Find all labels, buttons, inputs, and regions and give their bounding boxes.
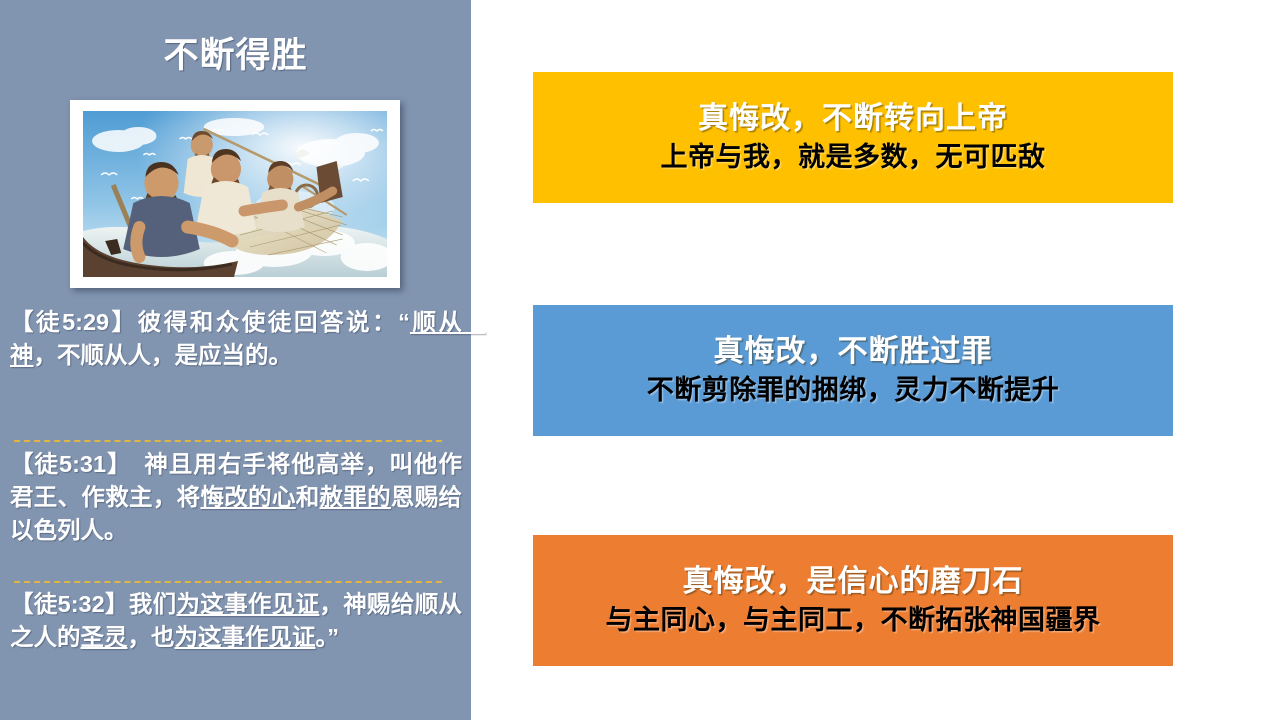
point-card-repentance-turn-to-god: 真悔改，不断转向上帝 上帝与我，就是多数，无可匹敌	[533, 72, 1173, 203]
point-card-repentance-overcome-sin: 真悔改，不断胜过罪 不断剪除罪的捆绑，灵力不断提升	[533, 305, 1173, 436]
point-card-repentance-whetstone-of-faith: 真悔改，是信心的磨刀石 与主同心，与主同工，不断拓张神国疆界	[533, 535, 1173, 666]
point-subtitle: 与主同心，与主同工，不断拓张神国疆界	[606, 603, 1101, 638]
point-heading: 真悔改，不断转向上帝	[698, 100, 1008, 138]
verse-divider	[14, 581, 442, 583]
left-content-panel: 不断得胜	[0, 0, 471, 720]
fishermen-illustration	[83, 111, 387, 277]
point-heading: 真悔改，是信心的磨刀石	[683, 563, 1024, 601]
point-subtitle: 上帝与我，就是多数，无可匹敌	[661, 140, 1046, 175]
scripture-verse-acts-5-31: 【徒5:31】 神且用右手将他高举，叫他作君王、作救主，将悔改的心和赦罪的恩赐给…	[10, 448, 462, 547]
point-subtitle: 不断剪除罪的捆绑，灵力不断提升	[647, 373, 1060, 408]
illustration-frame	[70, 100, 400, 288]
verse-divider	[14, 440, 442, 442]
page-title: 不断得胜	[0, 36, 471, 76]
scripture-verse-acts-5-32: 【徒5:32】我们为这事作见证，神赐给顺从之人的圣灵，也为这事作见证。”	[10, 588, 462, 654]
scripture-verse-acts-5-29: 【徒5:29】彼得和众使徒回答说：“顺从 神，不顺从人，是应当的。	[10, 306, 462, 372]
point-heading: 真悔改，不断胜过罪	[714, 333, 993, 371]
